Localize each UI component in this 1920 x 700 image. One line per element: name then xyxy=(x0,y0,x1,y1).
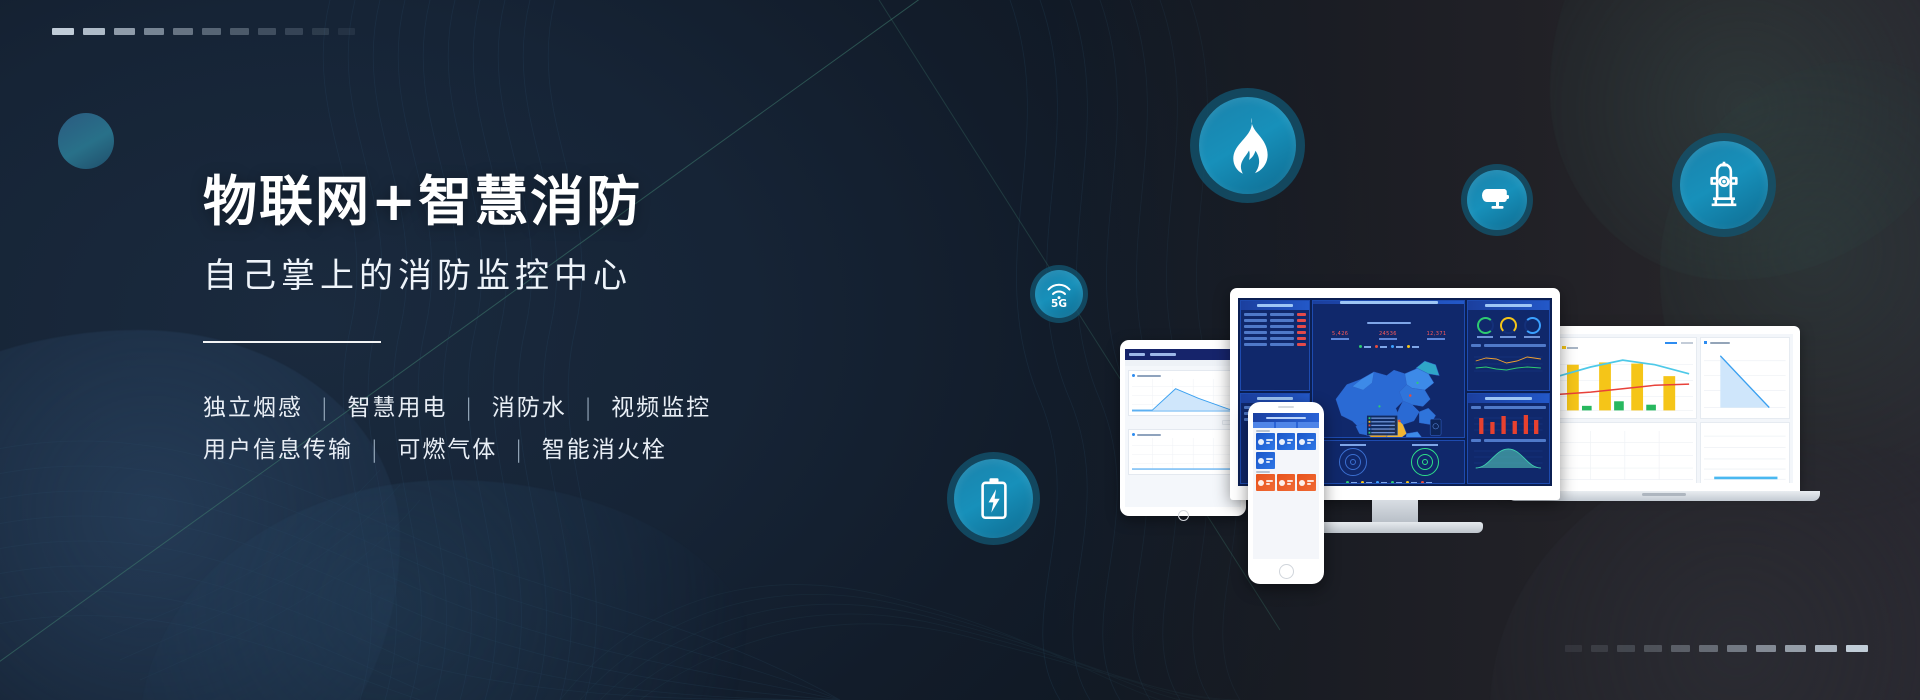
panel-alarm-list xyxy=(1240,300,1310,391)
phone-screen xyxy=(1253,413,1319,559)
device-mockups: 5,426 24536 12,371 xyxy=(1120,282,1880,582)
trend-line-chart xyxy=(1474,350,1543,376)
gauge-green xyxy=(1477,317,1494,334)
feature-separator: | xyxy=(457,395,483,421)
monitor-neck xyxy=(1372,500,1418,522)
radar-chart-blue xyxy=(1339,448,1367,476)
phone-tabs[interactable] xyxy=(1253,422,1319,428)
tablet-screen xyxy=(1125,349,1241,507)
phone-tile[interactable] xyxy=(1297,433,1316,450)
phone-tile[interactable] xyxy=(1256,452,1275,469)
tablet-line-chart xyxy=(1132,438,1234,471)
tablet-home-button[interactable] xyxy=(1178,510,1189,521)
panel-gauges xyxy=(1467,300,1550,391)
phone-tile-grid-orange xyxy=(1253,474,1319,491)
tablet-device xyxy=(1120,340,1246,516)
5g-icon-badge: 5G xyxy=(1030,265,1088,323)
phone-tile[interactable] xyxy=(1277,474,1296,491)
laptop-descending-area-chart xyxy=(1704,346,1786,415)
feature-item: 智慧用电 xyxy=(347,395,447,421)
gauge-blue xyxy=(1524,317,1541,334)
phone-tile-grid-blue xyxy=(1253,433,1319,469)
stat-value: 24536 xyxy=(1379,331,1397,337)
radar-chart-green xyxy=(1411,448,1439,476)
stat-value: 5,426 xyxy=(1331,331,1349,337)
phone-tile[interactable] xyxy=(1297,474,1316,491)
feature-separator: | xyxy=(312,395,338,421)
phone-speaker xyxy=(1278,406,1294,408)
phone-tile[interactable] xyxy=(1277,433,1296,450)
battery-bolt-icon xyxy=(978,477,1010,521)
page-subtitle: 自己掌上的消防监控中心 xyxy=(203,256,923,297)
5g-wifi-icon: 5G xyxy=(1044,280,1074,308)
map-legend xyxy=(1316,343,1461,350)
bar-chart-red xyxy=(1474,412,1543,436)
gauge-group xyxy=(1471,313,1546,342)
feature-list: 独立烟感 | 智慧用电 | 消防水 | 视频监控 用户信息传输 | 可燃气体 |… xyxy=(203,387,923,472)
power-icon-badge xyxy=(947,452,1040,545)
feature-item: 独立烟感 xyxy=(203,395,303,421)
feature-item: 消防水 xyxy=(492,395,567,421)
camera-icon-badge xyxy=(1461,164,1533,236)
hero-banner: 物联网+智慧消防 自己掌上的消防监控中心 独立烟感 | 智慧用电 | 消防水 |… xyxy=(0,0,1920,700)
tablet-titlebar xyxy=(1125,349,1241,360)
tablet-area-chart xyxy=(1132,379,1234,412)
panel-bar-chart xyxy=(1467,393,1550,484)
fire-icon xyxy=(1223,117,1273,175)
phone-tile[interactable] xyxy=(1256,433,1275,450)
feature-separator: | xyxy=(576,395,602,421)
hydrant-icon-badge xyxy=(1672,133,1776,237)
laptop-baseline-chart xyxy=(1704,426,1786,483)
feature-separator: | xyxy=(507,437,533,463)
area-chart-bell xyxy=(1474,445,1543,469)
svg-text:5G: 5G xyxy=(1051,298,1067,308)
china-map xyxy=(1316,350,1461,438)
phone-home-button[interactable] xyxy=(1279,564,1294,579)
decor-dashes-top-left xyxy=(52,28,364,35)
tablet-chart-card-2 xyxy=(1128,429,1238,475)
feature-separator: | xyxy=(362,437,388,463)
stat-value: 12,371 xyxy=(1427,331,1447,337)
camera-icon xyxy=(1479,186,1515,214)
gauge-yellow xyxy=(1500,317,1517,334)
tablet-chart-card xyxy=(1128,370,1238,416)
feature-row-1: 独立烟感 | 智慧用电 | 消防水 | 视频监控 xyxy=(203,387,923,430)
feature-row-2: 用户信息传输 | 可燃气体 | 智能消火栓 xyxy=(203,429,923,472)
phone-titlebar xyxy=(1253,413,1319,422)
panel-map: 5,426 24536 12,371 xyxy=(1312,300,1465,438)
map-stats: 5,426 24536 12,371 xyxy=(1316,328,1461,343)
laptop-bottom-bar-card xyxy=(1700,422,1790,483)
hydrant-icon xyxy=(1703,159,1745,211)
feature-item: 智能消火栓 xyxy=(542,437,667,463)
phone-device xyxy=(1248,402,1324,584)
fire-icon-badge xyxy=(1190,88,1305,203)
phone-tile[interactable] xyxy=(1256,474,1275,491)
page-title: 物联网+智慧消防 xyxy=(203,170,923,234)
feature-item: 视频监控 xyxy=(611,395,711,421)
feature-item: 用户信息传输 xyxy=(203,437,353,463)
hero-copy: 物联网+智慧消防 自己掌上的消防监控中心 独立烟感 | 智慧用电 | 消防水 |… xyxy=(203,170,923,472)
decor-circle-accent xyxy=(58,113,114,169)
laptop-area-card xyxy=(1700,337,1790,419)
panel-radars xyxy=(1312,440,1465,484)
feature-item: 可燃气体 xyxy=(397,437,497,463)
decor-dashes-bottom-right xyxy=(1565,645,1868,652)
monitor-base xyxy=(1307,522,1483,533)
divider-rule xyxy=(203,341,381,343)
